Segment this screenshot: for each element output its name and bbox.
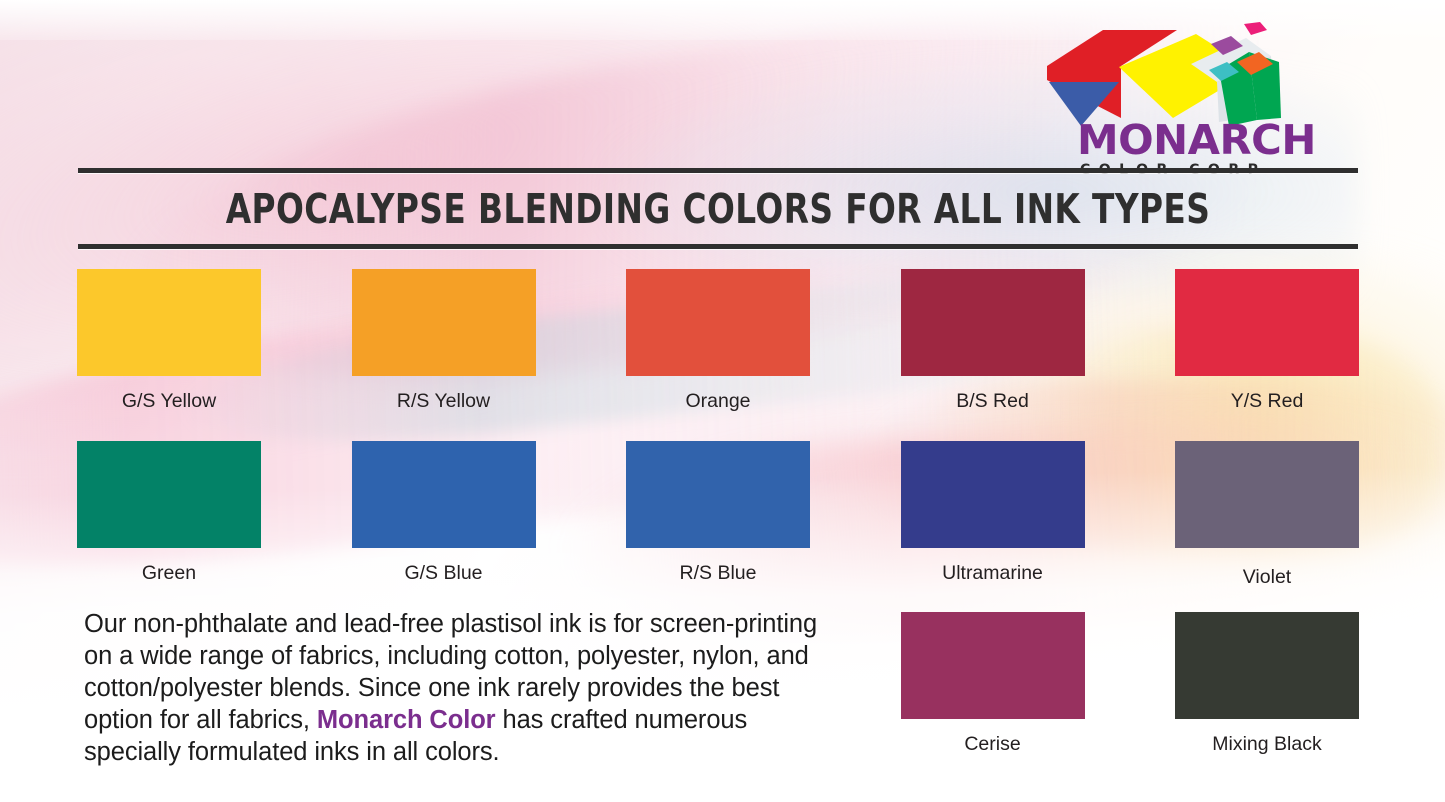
swatch-cell-ys-red[interactable]: Y/S Red <box>1175 269 1359 413</box>
logo-wordmark: MONARCH COLOR CORP <box>1077 120 1357 170</box>
swatch-label: R/S Yellow <box>397 390 490 413</box>
swatch-chip <box>626 441 810 548</box>
swatch-cell-cerise[interactable]: Cerise <box>901 612 1085 756</box>
swatch-chip <box>901 612 1085 719</box>
swatch-label: Ultramarine <box>942 562 1043 585</box>
swatch-cell-rs-blue[interactable]: R/S Blue <box>626 441 810 589</box>
swatch-cell-orange[interactable]: Orange <box>626 269 810 413</box>
swatch-cell-gs-blue[interactable]: G/S Blue <box>352 441 536 589</box>
swatch-label: Violet <box>1243 566 1291 589</box>
swatch-label: Cerise <box>964 733 1020 756</box>
swatch-chip <box>77 441 261 548</box>
swatch-label: Green <box>142 562 196 585</box>
title-rule-bottom <box>78 244 1358 249</box>
swatch-label: Orange <box>685 390 750 413</box>
swatch-label: Mixing Black <box>1212 733 1321 756</box>
swatch-row-1: G/S Yellow R/S Yellow Orange B/S Red Y/S… <box>77 269 1359 413</box>
monarch-logo[interactable]: MONARCH COLOR CORP <box>1041 22 1357 167</box>
swatch-chip <box>626 269 810 376</box>
swatch-chip <box>352 441 536 548</box>
swatch-label: G/S Yellow <box>122 390 216 413</box>
swatch-chip <box>1175 269 1359 376</box>
swatch-cell-rs-yellow[interactable]: R/S Yellow <box>352 269 536 413</box>
brand-mention: Monarch Color <box>317 706 496 734</box>
swatch-cell-violet[interactable]: Violet <box>1175 441 1359 589</box>
title-block: APOCALYPSE BLENDING COLORS FOR ALL INK T… <box>78 168 1358 249</box>
swatch-label: B/S Red <box>956 390 1029 413</box>
swatch-row-2: Green G/S Blue R/S Blue Ultramarine Viol… <box>77 441 1359 589</box>
page-title: APOCALYPSE BLENDING COLORS FOR ALL INK T… <box>206 177 1230 241</box>
title-rule-top <box>78 168 1358 173</box>
swatch-cell-green[interactable]: Green <box>77 441 261 589</box>
swatch-cell-ultramarine[interactable]: Ultramarine <box>901 441 1085 589</box>
swatch-chip <box>1175 441 1359 548</box>
swatch-label: Y/S Red <box>1231 390 1304 413</box>
logo-monarch-text: MONARCH <box>1077 120 1363 161</box>
swatch-cell-bs-red[interactable]: B/S Red <box>901 269 1085 413</box>
monarch-cube-logo-icon <box>1041 22 1357 127</box>
swatch-chip <box>901 269 1085 376</box>
swatch-label: G/S Blue <box>404 562 482 585</box>
swatch-label: R/S Blue <box>680 562 757 585</box>
poster-canvas: MONARCH COLOR CORP APOCALYPSE BLENDING C… <box>0 0 1445 802</box>
swatch-chip <box>77 269 261 376</box>
swatch-cell-mixing-black[interactable]: Mixing Black <box>1175 612 1359 756</box>
swatch-cell-gs-yellow[interactable]: G/S Yellow <box>77 269 261 413</box>
swatch-chip <box>901 441 1085 548</box>
description-paragraph: Our non-phthalate and lead-free plastiso… <box>84 608 824 768</box>
swatch-chip <box>1175 612 1359 719</box>
swatch-chip <box>352 269 536 376</box>
